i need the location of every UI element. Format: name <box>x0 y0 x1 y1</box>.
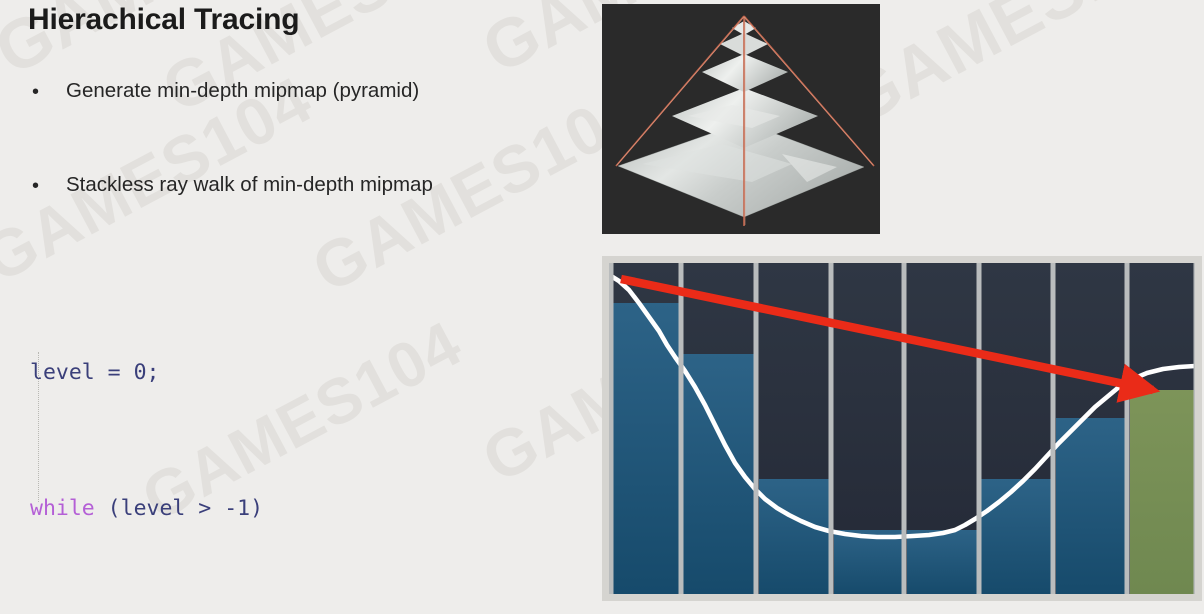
hiz-cell-6 <box>981 479 1052 595</box>
hiz-svg <box>605 259 1199 598</box>
pyramid-svg <box>602 4 880 234</box>
hiz-cell-5 <box>907 530 977 595</box>
code-token-punct: ; <box>147 360 160 385</box>
code-token-punct: ) <box>250 496 263 521</box>
code-token-operator: = <box>95 360 134 385</box>
hiz-cell-7 <box>1056 418 1126 595</box>
list-item: • Stackless ray walk of min-depth mipmap <box>28 172 588 198</box>
bullet-text: Generate min-depth mipmap (pyramid) <box>66 79 419 102</box>
code-line: level = 0; <box>30 356 431 390</box>
slide-canvas: GAMES104 GAMES104 GAMES104 GAMES104 GAME… <box>0 0 1204 614</box>
code-indent-guide <box>38 352 39 502</box>
code-block: level = 0; while (level > -1) { stepCurr… <box>30 288 431 614</box>
pyramid-marker-dot <box>710 96 713 99</box>
left-content-column: Hierachical Tracing • Generate min-depth… <box>0 0 600 614</box>
code-token-number: 0 <box>134 360 147 385</box>
code-token-punct: ( <box>95 496 121 521</box>
code-token-operator: > <box>185 496 224 521</box>
code-line: while (level > -1) <box>30 492 431 526</box>
code-token-variable: level <box>121 496 186 521</box>
hiz-cell-8-hit <box>1130 390 1199 595</box>
code-token-variable: level <box>30 360 95 385</box>
bullet-dot-icon: • <box>32 173 39 199</box>
list-item: • Generate min-depth mipmap (pyramid) <box>28 78 588 104</box>
hiz-cell-3 <box>759 479 830 595</box>
hiz-ray-walk-figure <box>602 256 1202 601</box>
hiz-cell-4 <box>834 530 903 595</box>
code-token-number: -1 <box>224 496 250 521</box>
bullet-dot-icon: • <box>32 79 39 105</box>
mipmap-pyramid-figure <box>602 4 880 234</box>
watermark-text: GAMES104 <box>830 0 1204 141</box>
bullet-text: Stackless ray walk of min-depth mipmap <box>66 173 433 196</box>
page-title: Hierachical Tracing <box>28 3 299 37</box>
code-token-keyword: while <box>30 496 95 521</box>
bullet-list: • Generate min-depth mipmap (pyramid) • … <box>28 78 588 198</box>
